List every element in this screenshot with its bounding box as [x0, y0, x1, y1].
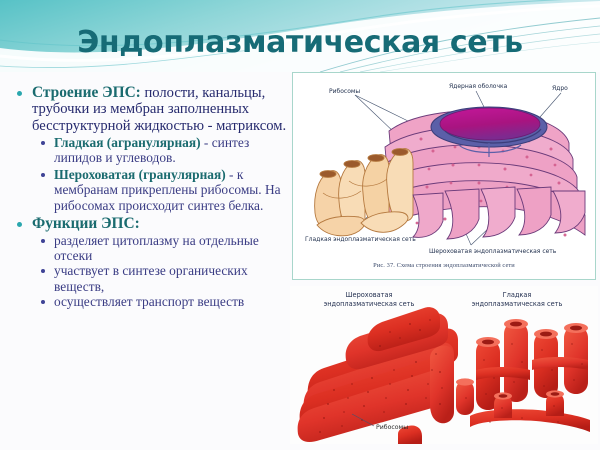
function-3-text: осуществляет транспорт веществ — [54, 294, 244, 309]
bullet-dot-icon — [17, 222, 22, 227]
micrograph-pair: Шероховатая эндоплазматическая сеть Глад… — [290, 286, 598, 444]
content-column: Строение ЭПС: полости, канальцы, трубочк… — [8, 84, 290, 309]
structure-heading: Строение ЭПС: — [32, 84, 141, 101]
label-nucleus: Ядро — [552, 85, 568, 92]
smooth-er-micrograph — [456, 319, 590, 432]
bullet-list-level1: Строение ЭПС: полости, канальцы, трубочк… — [8, 84, 290, 309]
bullet-dot-icon — [41, 141, 45, 145]
rough-er-term: Шероховатая (гранулярная) — [54, 167, 226, 182]
bullet-list-structure-sub: Гладкая (агранулярная) - синтез липидов … — [34, 135, 290, 213]
list-item-function-1: разделяет цитоплазму на отдельные отсеки — [34, 233, 290, 263]
list-item-functions: Функции ЭПС: — [8, 215, 290, 232]
er-schematic-diagram: Рибосомы Ядерная оболочка Ядро Гладкая э… — [292, 72, 596, 280]
label-rough-er: Шероховатая эндоплазматическая сеть — [429, 248, 557, 255]
nucleus-structure — [431, 107, 547, 147]
label-smooth-er: Гладкая эндоплазматическая сеть — [305, 236, 416, 243]
bullet-list-functions-sub: разделяет цитоплазму на отдельные отсеки… — [34, 233, 290, 309]
er-schematic-graphic: Рибосомы Ядерная оболочка Ядро Гладкая э… — [293, 73, 594, 278]
rough-er-micrograph: Рибосомы — [298, 307, 458, 444]
diagram-caption: Рис. 37. Схема строения эндоплазматическ… — [292, 262, 596, 269]
function-2-text: участвует в синтезе органических веществ… — [54, 263, 248, 293]
bullet-dot-icon — [41, 269, 45, 273]
list-item-function-2: участвует в синтезе органических веществ… — [34, 263, 290, 293]
label-ribosomes-micrograph: Рибосомы — [376, 423, 408, 431]
function-1-text: разделяет цитоплазму на отдельные отсеки — [54, 233, 259, 263]
list-item-function-3: осуществляет транспорт веществ — [34, 294, 290, 309]
list-item-structure: Строение ЭПС: полости, канальцы, трубочк… — [8, 84, 290, 134]
bullet-dot-icon — [41, 173, 45, 177]
label-nuclear-envelope: Ядерная оболочка — [449, 83, 508, 90]
bullet-dot-icon — [41, 239, 45, 243]
page-title: Эндоплазматическая сеть — [0, 25, 600, 60]
list-item-rough-er: Шероховатая (гранулярная) - к мембранам … — [34, 167, 290, 212]
micrograph-graphics: Рибосомы — [290, 286, 598, 444]
list-item-smooth-er: Гладкая (агранулярная) - синтез липидов … — [34, 135, 290, 165]
label-ribosomes: Рибосомы — [329, 88, 360, 95]
bullet-dot-icon — [41, 300, 45, 304]
functions-heading: Функции ЭПС: — [32, 215, 140, 232]
smooth-er-term: Гладкая (агранулярная) — [54, 135, 201, 150]
bullet-dot-icon — [17, 91, 22, 96]
